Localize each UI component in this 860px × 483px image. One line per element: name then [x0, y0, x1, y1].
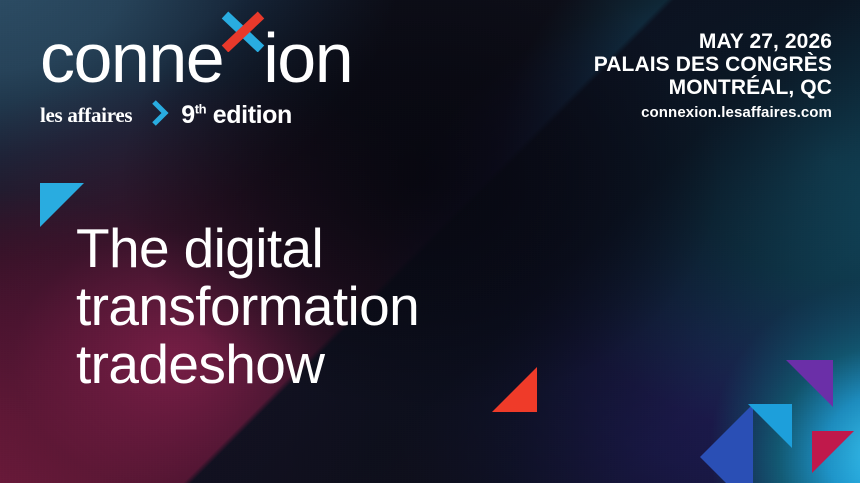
- wordmark-connexion: conne ion: [40, 22, 352, 94]
- edition-number: 9: [181, 101, 195, 129]
- event-url-link[interactable]: connexion.lesaffaires.com: [594, 102, 832, 124]
- triangle-blue-arrow: [700, 404, 753, 483]
- wordmark-x-mark: [223, 38, 263, 82]
- edition-label: 9th edition: [181, 101, 292, 130]
- edition-ordinal: th: [195, 101, 206, 116]
- event-date: MAY 27, 2026: [594, 30, 832, 53]
- triangle-red-accent: [492, 367, 537, 412]
- triangle-cyan-accent: [40, 183, 84, 227]
- chevron-right-icon: [152, 100, 169, 130]
- promo-banner: conne ion les affaires 9th edition: [0, 0, 860, 483]
- publisher-name: les affaires: [40, 103, 132, 128]
- event-info: MAY 27, 2026 PALAIS DES CONGRÈS MONTRÉAL…: [594, 30, 832, 124]
- wordmark-prefix: conne: [40, 19, 223, 97]
- wordmark-suffix: ion: [263, 19, 352, 97]
- triangle-purple-accent: [786, 360, 833, 407]
- triangle-light-blue-accent: [748, 404, 792, 448]
- event-venue: PALAIS DES CONGRÈS: [594, 53, 832, 76]
- edition-word: edition: [213, 101, 292, 129]
- event-city: MONTRÉAL, QC: [594, 76, 832, 99]
- brand-tagline: les affaires 9th edition: [40, 100, 352, 130]
- brand-logo[interactable]: conne ion les affaires 9th edition: [40, 22, 352, 130]
- headline-text: The digital transformation tradeshow: [76, 219, 419, 393]
- triangle-crimson-accent: [812, 431, 854, 473]
